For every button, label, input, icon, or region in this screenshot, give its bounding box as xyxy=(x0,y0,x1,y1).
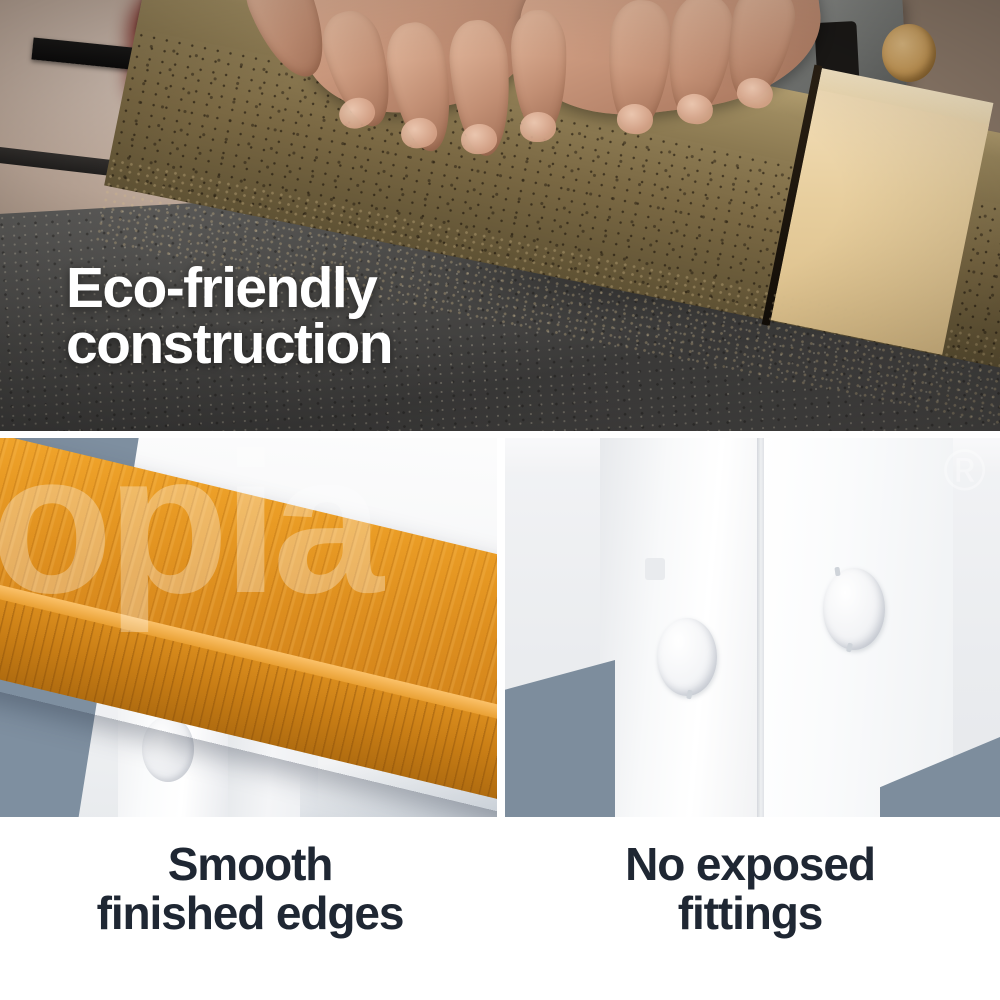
hero-image-eco-friendly-construction: Eco-friendly construction xyxy=(0,0,1000,431)
caption-no-exposed-fittings: No exposed fittings xyxy=(500,840,1000,980)
tile-image-no-exposed-fittings xyxy=(505,438,1000,817)
cap-edge-nick xyxy=(834,567,840,577)
tile-image-smooth-edges xyxy=(0,438,497,817)
product-feature-collage: Eco-friendly construction xyxy=(0,0,1000,1000)
hero-caption: Eco-friendly construction xyxy=(66,261,392,373)
post-seam xyxy=(757,438,764,817)
caption-smooth-finished-edges: Smooth finished edges xyxy=(0,840,500,980)
fingernail xyxy=(519,111,556,142)
bandsaw-adjust-knob xyxy=(882,24,936,82)
surface-mark xyxy=(645,558,665,580)
screw-cap-cover-lower xyxy=(657,618,717,696)
screw-cap-cover-upper xyxy=(823,568,885,650)
